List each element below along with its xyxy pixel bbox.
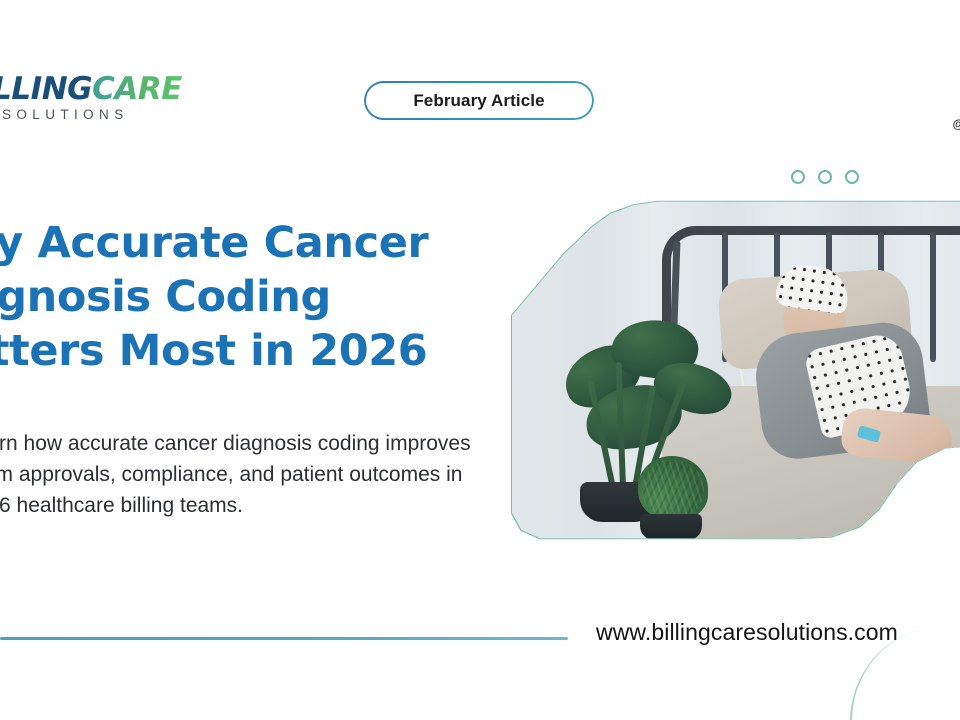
logo-word-billing: BILLING <box>0 71 92 107</box>
follow-us-block: Follow Us @billingcaresolutions <box>920 62 960 131</box>
page-title: Why Accurate Cancer Diagnosis Coding Mat… <box>0 216 558 378</box>
subcopy-line-3: 2026 healthcare billing teams. <box>0 490 534 521</box>
social-icon-row <box>920 91 960 112</box>
headline-line-1: Why Accurate Cancer <box>0 216 558 270</box>
article-month-badge-label: February Article <box>413 91 544 111</box>
headline-line-3: Matters Most in 2026 <box>0 324 558 378</box>
logo-wordmark: BILLINGCARE <box>0 72 218 106</box>
logo-word-care: CARE <box>92 71 182 107</box>
logo-subtitle: SOLUTIONS <box>2 107 218 122</box>
hero-image <box>512 200 960 540</box>
circle-outline-icon <box>818 170 832 184</box>
small-shrub <box>638 456 708 520</box>
circle-outline-icon <box>845 170 859 184</box>
website-url[interactable]: www.billingcaresolutions.com <box>596 619 898 646</box>
bed-rail-bar <box>930 232 936 362</box>
subcopy-line-1: Learn how accurate cancer diagnosis codi… <box>0 428 534 459</box>
brand-logo[interactable]: BILLINGCARE SOLUTIONS <box>0 72 218 136</box>
follow-us-title: Follow Us <box>920 62 960 86</box>
article-banner-canvas: BILLINGCARE SOLUTIONS February Article F… <box>0 0 960 720</box>
small-plant-pot <box>640 514 702 540</box>
footer-divider <box>0 637 568 640</box>
circle-outline-icon <box>791 170 805 184</box>
article-month-badge[interactable]: February Article <box>364 81 594 120</box>
subcopy-line-2: claim approvals, compliance, and patient… <box>0 459 534 490</box>
decorative-dots <box>791 170 859 184</box>
headline-line-2: Diagnosis Coding <box>0 270 558 324</box>
social-handle: @billingcaresolutions <box>920 117 960 131</box>
subheading-text: Learn how accurate cancer diagnosis codi… <box>0 428 534 521</box>
